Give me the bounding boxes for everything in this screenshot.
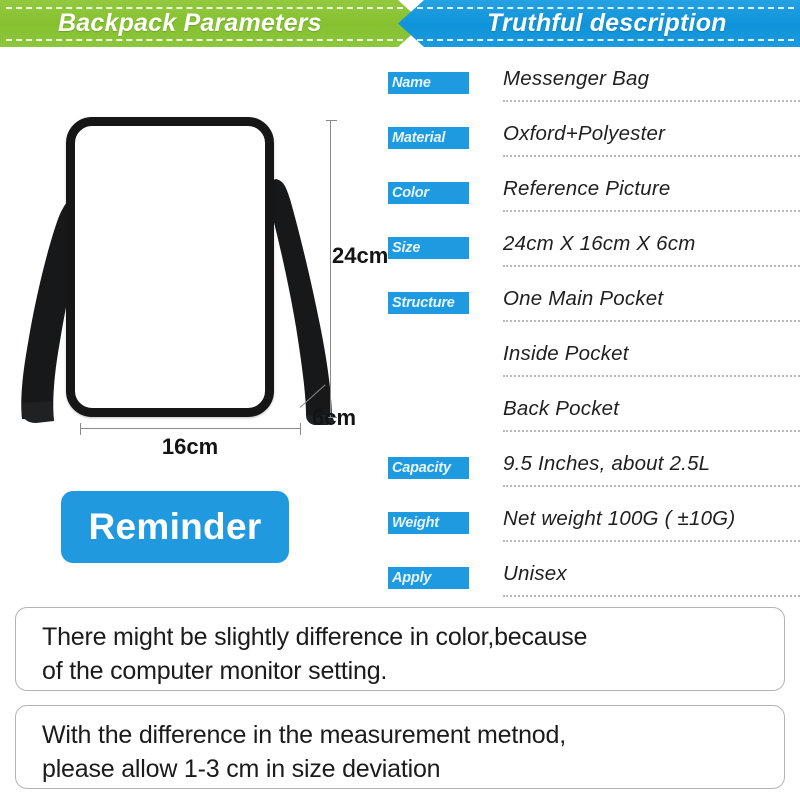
spec-value-text: Back Pocket bbox=[503, 397, 619, 420]
note-1-line-1: There might be slightly difference in co… bbox=[42, 620, 762, 654]
spec-label-text: Apply bbox=[392, 570, 431, 586]
spec-row: Back Pocket bbox=[388, 390, 800, 445]
spec-value-text: Oxford+Polyester bbox=[503, 122, 665, 145]
width-dimension-label: 16cm bbox=[80, 434, 300, 460]
spec-row: ColorReference Picture bbox=[388, 170, 800, 225]
note-color-disclaimer: There might be slightly difference in co… bbox=[15, 607, 785, 691]
spec-value-text: One Main Pocket bbox=[503, 287, 663, 310]
bag-illustration: Your Picture Here 24cm 16cm 6cm bbox=[0, 47, 380, 477]
spec-value-text: Net weight 100G ( ±10G) bbox=[503, 507, 735, 530]
spec-row: StructureOne Main Pocket bbox=[388, 280, 800, 335]
spec-label-chip: Capacity bbox=[388, 457, 469, 479]
width-dimension-line bbox=[80, 428, 300, 429]
spec-value-cell: One Main Pocket bbox=[503, 282, 800, 322]
spec-value-cell: 24cm X 16cm X 6cm bbox=[503, 227, 800, 267]
spec-label-text: Weight bbox=[392, 515, 439, 531]
spec-label-text: Material bbox=[392, 130, 445, 146]
spec-label-text: Capacity bbox=[392, 460, 451, 476]
height-dimension-line bbox=[330, 120, 331, 417]
spec-value-cell: Unisex bbox=[503, 557, 800, 597]
depth-dimension-label: 6cm bbox=[312, 405, 356, 431]
bag-body bbox=[66, 117, 274, 417]
specification-table: NameMessenger BagMaterialOxford+Polyeste… bbox=[388, 60, 800, 610]
spec-label-chip: Size bbox=[388, 237, 469, 259]
spec-value-cell: Oxford+Polyester bbox=[503, 117, 800, 157]
spec-row: Capacity9.5 Inches, about 2.5L bbox=[388, 445, 800, 500]
spec-label-chip: Color bbox=[388, 182, 469, 204]
spec-value-text: Reference Picture bbox=[503, 177, 670, 200]
spec-row: NameMessenger Bag bbox=[388, 60, 800, 115]
spec-label-text: Size bbox=[392, 240, 420, 256]
note-measurement-disclaimer: With the difference in the measurement m… bbox=[15, 705, 785, 789]
height-dimension-label: 24cm bbox=[332, 243, 388, 269]
note-2-line-1: With the difference in the measurement m… bbox=[42, 718, 762, 752]
spec-label-chip: Apply bbox=[388, 567, 469, 589]
spec-label-text: Name bbox=[392, 75, 431, 91]
spec-value-text: 9.5 Inches, about 2.5L bbox=[503, 452, 710, 475]
spec-value-text: Unisex bbox=[503, 562, 567, 585]
spec-value-cell: Reference Picture bbox=[503, 172, 800, 212]
header-dashed-line-bottom bbox=[6, 39, 794, 41]
reminder-label: Reminder bbox=[88, 506, 261, 548]
spec-row: Inside Pocket bbox=[388, 335, 800, 390]
spec-value-cell: Messenger Bag bbox=[503, 62, 800, 102]
spec-label-chip: Weight bbox=[388, 512, 469, 534]
spec-value-text: Messenger Bag bbox=[503, 67, 649, 90]
note-1-line-2: of the computer monitor setting. bbox=[42, 654, 762, 688]
spec-label-text: Color bbox=[392, 185, 429, 201]
spec-label-chip: Structure bbox=[388, 292, 469, 314]
spec-label-chip: Material bbox=[388, 127, 469, 149]
spec-value-text: Inside Pocket bbox=[503, 342, 629, 365]
spec-value-cell: Back Pocket bbox=[503, 392, 800, 432]
spec-value-cell: Inside Pocket bbox=[503, 337, 800, 377]
header-left-title: Backpack Parameters bbox=[58, 9, 322, 38]
spec-row: MaterialOxford+Polyester bbox=[388, 115, 800, 170]
spec-row: Size24cm X 16cm X 6cm bbox=[388, 225, 800, 280]
spec-label-text: Structure bbox=[392, 295, 455, 311]
spec-value-text: 24cm X 16cm X 6cm bbox=[503, 232, 696, 255]
reminder-badge: Reminder bbox=[61, 491, 289, 563]
spec-row: WeightNet weight 100G ( ±10G) bbox=[388, 500, 800, 555]
spec-value-cell: 9.5 Inches, about 2.5L bbox=[503, 447, 800, 487]
spec-value-cell: Net weight 100G ( ±10G) bbox=[503, 502, 800, 542]
header-banner: Backpack Parameters Truthful description bbox=[0, 0, 800, 47]
spec-row: ApplyUnisex bbox=[388, 555, 800, 610]
shoulder-strap-right bbox=[262, 175, 344, 425]
header-right-title: Truthful description bbox=[487, 9, 727, 38]
note-2-line-2: please allow 1-3 cm in size deviation bbox=[42, 752, 762, 786]
spec-label-chip: Name bbox=[388, 72, 469, 94]
